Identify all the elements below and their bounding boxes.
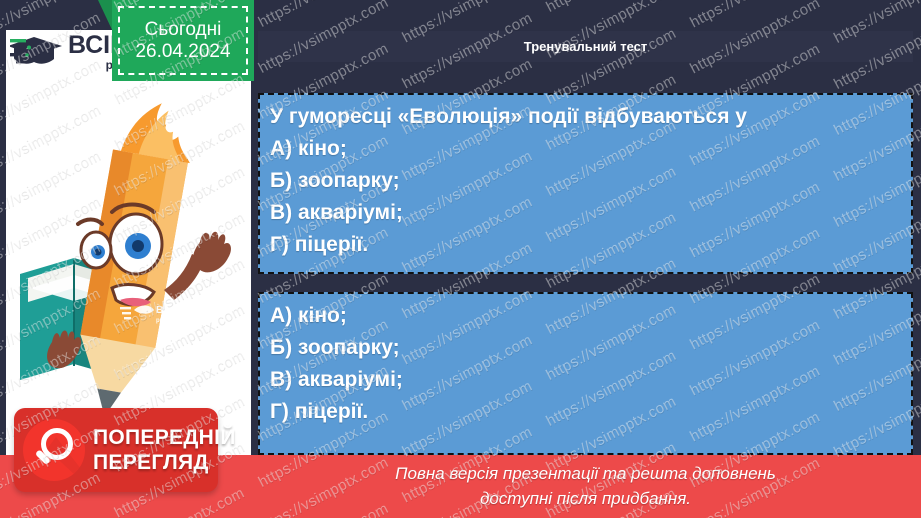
today-date: 26.04.2024 xyxy=(135,41,230,63)
answer-option-g: Г) піцерії. xyxy=(270,396,901,428)
magnifier-icon xyxy=(23,419,85,481)
answer-option-b: Б) зоопарку; xyxy=(270,332,901,364)
svg-text:ВСІМ: ВСІМ xyxy=(156,305,181,316)
page-title: Тренувальний тест xyxy=(524,39,647,54)
question-box: У гуморесці «Еволюція» події відбуваютьс… xyxy=(258,93,913,274)
answer-option-a: А) кіно; xyxy=(270,300,901,332)
preview-badge[interactable]: ПОПЕРЕДНІЙ ПЕРЕГЛЯД xyxy=(14,408,218,492)
question-option-v: В) акваріумі; xyxy=(270,197,901,229)
mascot-pencil-character: ВСІМ pptx xyxy=(8,92,248,417)
banner-line-1: Повна версія презентації та решта доповн… xyxy=(258,461,913,486)
today-label: Сьогодні xyxy=(145,19,222,41)
question-text: У гуморесці «Еволюція» події відбуваютьс… xyxy=(270,101,901,133)
preview-badge-text: ПОПЕРЕДНІЙ ПЕРЕГЛЯД xyxy=(93,425,236,475)
graduation-cap-icon xyxy=(10,31,66,73)
question-option-a: А) кіно; xyxy=(270,133,901,165)
answers-box: А) кіно; Б) зоопарку; В) акваріумі; Г) п… xyxy=(258,292,913,455)
slide-canvas: ВСІМ pptx ВСІМ pptx Сьог xyxy=(0,0,921,518)
question-option-g: Г) піцерії. xyxy=(270,229,901,261)
answer-option-v: В) акваріумі; xyxy=(270,364,901,396)
banner-line-2: доступні після придбання. xyxy=(258,486,913,511)
header-bar: Тренувальний тест xyxy=(258,31,913,62)
preview-line-2: ПЕРЕГЛЯД xyxy=(93,450,236,475)
svg-text:pptx: pptx xyxy=(156,318,169,324)
today-date-badge: Сьогодні 26.04.2024 xyxy=(112,0,254,81)
question-option-b: Б) зоопарку; xyxy=(270,165,901,197)
preview-line-1: ПОПЕРЕДНІЙ xyxy=(93,426,236,449)
